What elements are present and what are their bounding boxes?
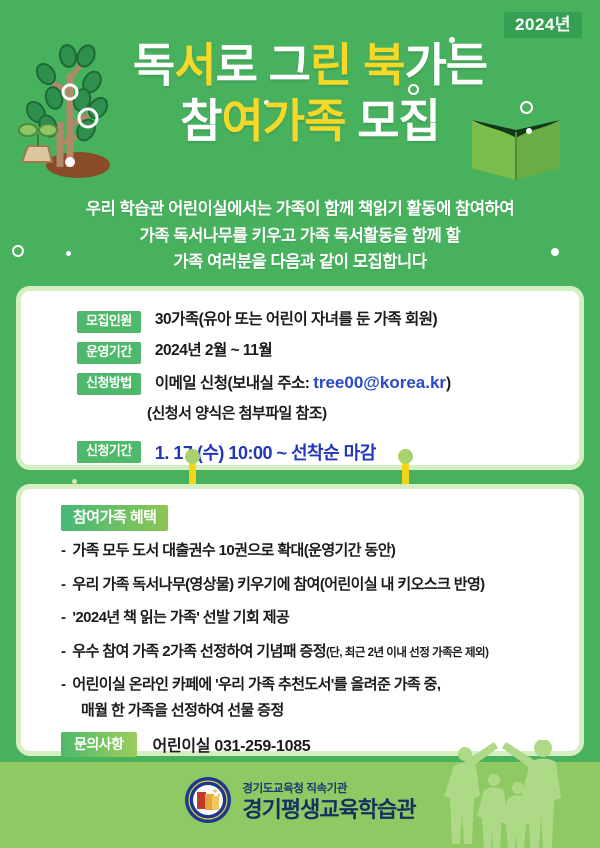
benefit-text-main: 우수 참여 가족 2가족 선정하여 기념패 증정 xyxy=(72,643,326,660)
apply-prefix: 이메일 신청(보내실 주소: xyxy=(155,375,313,392)
recruitment-info-panel: 모집인원 30가족(유아 또는 어린이 자녀를 둔 가족 회원) 운영기간 20… xyxy=(16,286,584,470)
apply-email-link[interactable]: tree00@korea.kr xyxy=(313,373,446,392)
benefits-heading: 참여가족 혜택 xyxy=(61,505,168,531)
benefit-item-4: - 우수 참여 가족 2가족 선정하여 기념패 증정(단, 최근 2년 이내 선… xyxy=(61,642,579,662)
poster-subtitle: 우리 학습관 어린이실에서는 가족이 함께 책읽기 활동에 참여하여 가족 독서… xyxy=(0,196,600,276)
organization-subtitle: 경기도교육청 직속기관 xyxy=(242,783,415,795)
info-rows: 모집인원 30가족(유아 또는 어린이 자녀를 둔 가족 회원) 운영기간 20… xyxy=(21,291,579,465)
apply-form-note: (신청서 양식은 첨부파일 참조) xyxy=(21,402,579,423)
bullet-dash: - xyxy=(61,608,65,628)
title-seg: 참 xyxy=(180,95,221,147)
benefit-text: 우수 참여 가족 2가족 선정하여 기념패 증정(단, 최근 2년 이내 선정 … xyxy=(72,642,488,662)
bullet-dash: - xyxy=(61,541,65,561)
organization-name: 경기평생교육학습관 xyxy=(242,798,415,821)
bullet-dash: - xyxy=(61,575,65,595)
subtitle-line-2: 가족 독서나무를 키우고 가족 독서활동을 함께 할 xyxy=(0,223,600,250)
label-capacity: 모집인원 xyxy=(77,311,141,333)
subtitle-line-1: 우리 학습관 어린이실에서는 가족이 함께 책읽기 활동에 참여하여 xyxy=(0,196,600,223)
subtitle-line-3: 가족 여러분을 다음과 같이 모집합니다 xyxy=(0,249,600,276)
benefit-text: 우리 가족 독서나무(영상물) 키우기에 참여(어린이실 내 키오스크 반영) xyxy=(72,575,484,595)
poster-root: 2024년 xyxy=(0,0,600,848)
info-row-capacity: 모집인원 30가족(유아 또는 어린이 자녀를 둔 가족 회원) xyxy=(21,309,579,333)
benefit-item-1: - 가족 모두 도서 대출권수 10권으로 확대(운영기간 동안) xyxy=(61,541,579,561)
benefit-text: 어린이실 온라인 카페에 '우리 가족 추천도서'를 올려준 가족 중, xyxy=(72,675,440,695)
title-seg-highlight: 린 xyxy=(310,39,351,91)
benefit-item-3: - '2024년 책 읽는 가족' 선발 기회 제공 xyxy=(61,608,579,628)
benefit-text: 가족 모두 도서 대출권수 10권으로 확대(운영기간 동안) xyxy=(72,541,395,561)
poster-header: 2024년 xyxy=(0,0,600,300)
benefit-item-2: - 우리 가족 독서나무(영상물) 키우기에 참여(어린이실 내 키오스크 반영… xyxy=(61,575,579,595)
year-badge: 2024년 xyxy=(504,12,582,38)
benefits-content: 참여가족 혜택 - 가족 모두 도서 대출권수 10권으로 확대(운영기간 동안… xyxy=(21,489,579,757)
title-seg-highlight: 서 xyxy=(174,39,215,91)
benefit-item-5: - 어린이실 온라인 카페에 '우리 가족 추천도서'를 올려준 가족 중, xyxy=(61,675,579,695)
info-row-apply-method: 신청방법 이메일 신청(보내실 주소: tree00@korea.kr) xyxy=(21,371,579,395)
info-row-period: 운영기간 2024년 2월 ~ 11월 xyxy=(21,340,579,364)
title-seg: 로 그 xyxy=(216,39,310,91)
value-contact: 어린이실 031-259-1085 xyxy=(153,732,311,756)
value-apply-method: 이메일 신청(보내실 주소: tree00@korea.kr) xyxy=(155,371,451,395)
label-application-period: 신청기간 xyxy=(77,441,141,463)
title-seg: 가든 xyxy=(404,39,487,91)
poster-footer: 경기도교육청 직속기관 경기평생교육학습관 xyxy=(0,762,600,848)
bullet-dash: - xyxy=(61,675,65,695)
apply-suffix: ) xyxy=(446,375,451,392)
benefit-text: '2024년 책 읽는 가족' 선발 기회 제공 xyxy=(72,608,289,628)
title-line-2: 참여가족 모집 xyxy=(20,94,600,148)
label-operation-period: 운영기간 xyxy=(77,342,141,364)
benefits-panel: 참여가족 혜택 - 가족 모두 도서 대출권수 10권으로 확대(운영기간 동안… xyxy=(16,484,584,756)
title-seg: 모집 xyxy=(345,95,439,147)
panel-connector-left-head xyxy=(185,449,200,464)
label-contact: 문의사항 xyxy=(61,732,137,757)
organization-text: 경기도교육청 직속기관 경기평생교육학습관 xyxy=(242,783,415,821)
bullet-dash: - xyxy=(61,642,65,662)
poster-title: 독서로 그린 북가든 참여가족 모집 xyxy=(0,38,600,149)
value-operation-period: 2024년 2월 ~ 11월 xyxy=(155,340,272,362)
panel-connector-right-head xyxy=(398,449,413,464)
title-line-1: 독서로 그린 북가든 xyxy=(20,38,600,92)
organization-block: 경기도교육청 직속기관 경기평생교육학습관 xyxy=(0,776,600,829)
info-row-application-period: 신청기간 1. 17.(수) 10:00 ~ 선착순 마감 xyxy=(21,439,579,465)
value-capacity: 30가족(유아 또는 어린이 자녀를 둔 가족 회원) xyxy=(155,309,437,331)
benefit-text-note: (단, 최근 2년 이내 선정 가족은 제외) xyxy=(326,647,488,659)
title-seg-highlight: 여 xyxy=(221,95,262,147)
benefit-item-5-continuation: 매월 한 가족을 선정하여 선물 증정 xyxy=(81,699,579,720)
institution-seal-logo xyxy=(184,776,232,829)
title-seg-highlight: 북 xyxy=(351,39,404,91)
title-seg-highlight: 가족 xyxy=(263,95,346,147)
label-apply-method: 신청방법 xyxy=(77,373,141,395)
title-seg: 독 xyxy=(133,39,174,91)
